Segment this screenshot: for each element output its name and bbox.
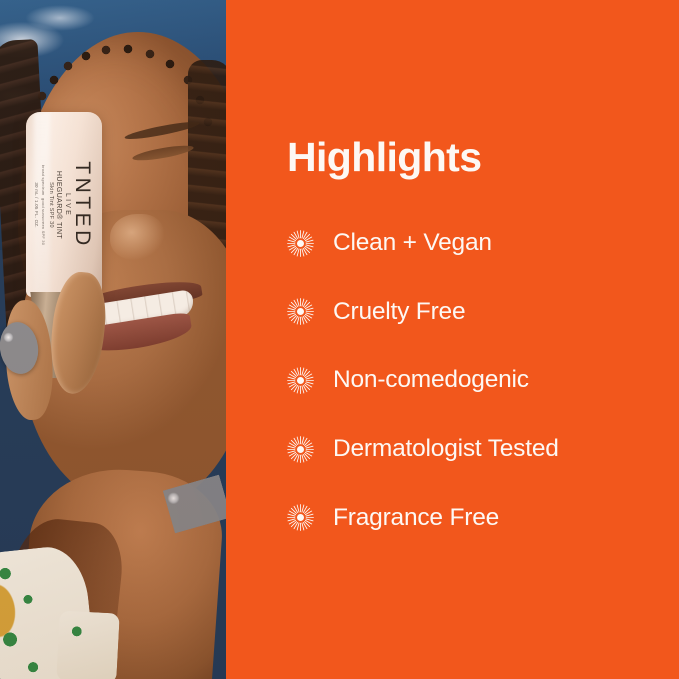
tube-product-subtitle: Skin Tint SPF 30 <box>48 116 54 294</box>
list-item: Non-comedogenic <box>287 346 667 415</box>
highlight-label: Fragrance Free <box>333 504 499 532</box>
page-title: Highlights <box>287 137 667 178</box>
highlight-label: Dermatologist Tested <box>333 435 559 463</box>
tube-volume: 30 mL / 1.05 FL. OZ. <box>34 116 39 294</box>
highlights-content: Highlights Clean + VeganCruelty FreeNon-… <box>287 0 667 552</box>
tube-brand-name: TNTED <box>71 116 94 294</box>
tube-product-name: HUEGUARD® TINT <box>55 116 62 294</box>
sunburst-icon <box>287 436 314 463</box>
tube-brand-prefix: LIVE <box>64 116 71 294</box>
list-item: Clean + Vegan <box>287 209 667 278</box>
highlights-list: Clean + VeganCruelty FreeNon-comedogenic… <box>287 209 667 552</box>
tube-label: TNTED LIVE HUEGUARD® TINT Skin Tint SPF … <box>34 116 94 294</box>
product-highlights-graphic: TNTED LIVE HUEGUARD® TINT Skin Tint SPF … <box>0 0 679 679</box>
sunburst-icon <box>287 298 314 325</box>
sunburst-icon <box>287 230 314 257</box>
product-photo: TNTED LIVE HUEGUARD® TINT Skin Tint SPF … <box>0 0 226 679</box>
sunburst-icon <box>287 367 314 394</box>
highlight-label: Non-comedogenic <box>333 366 529 394</box>
patterned-shirt-lower <box>56 610 120 679</box>
model-nose <box>110 214 164 260</box>
tube-fine-print: broad spectrum good sunscreen SPF 30 <box>41 116 46 294</box>
product-tube: TNTED LIVE HUEGUARD® TINT Skin Tint SPF … <box>26 112 102 297</box>
highlight-label: Cruelty Free <box>333 298 465 326</box>
highlight-label: Clean + Vegan <box>333 229 492 257</box>
list-item: Fragrance Free <box>287 483 667 552</box>
list-item: Dermatologist Tested <box>287 415 667 484</box>
highlights-panel: Highlights Clean + VeganCruelty FreeNon-… <box>226 0 679 679</box>
sunburst-icon <box>287 504 314 531</box>
list-item: Cruelty Free <box>287 278 667 347</box>
